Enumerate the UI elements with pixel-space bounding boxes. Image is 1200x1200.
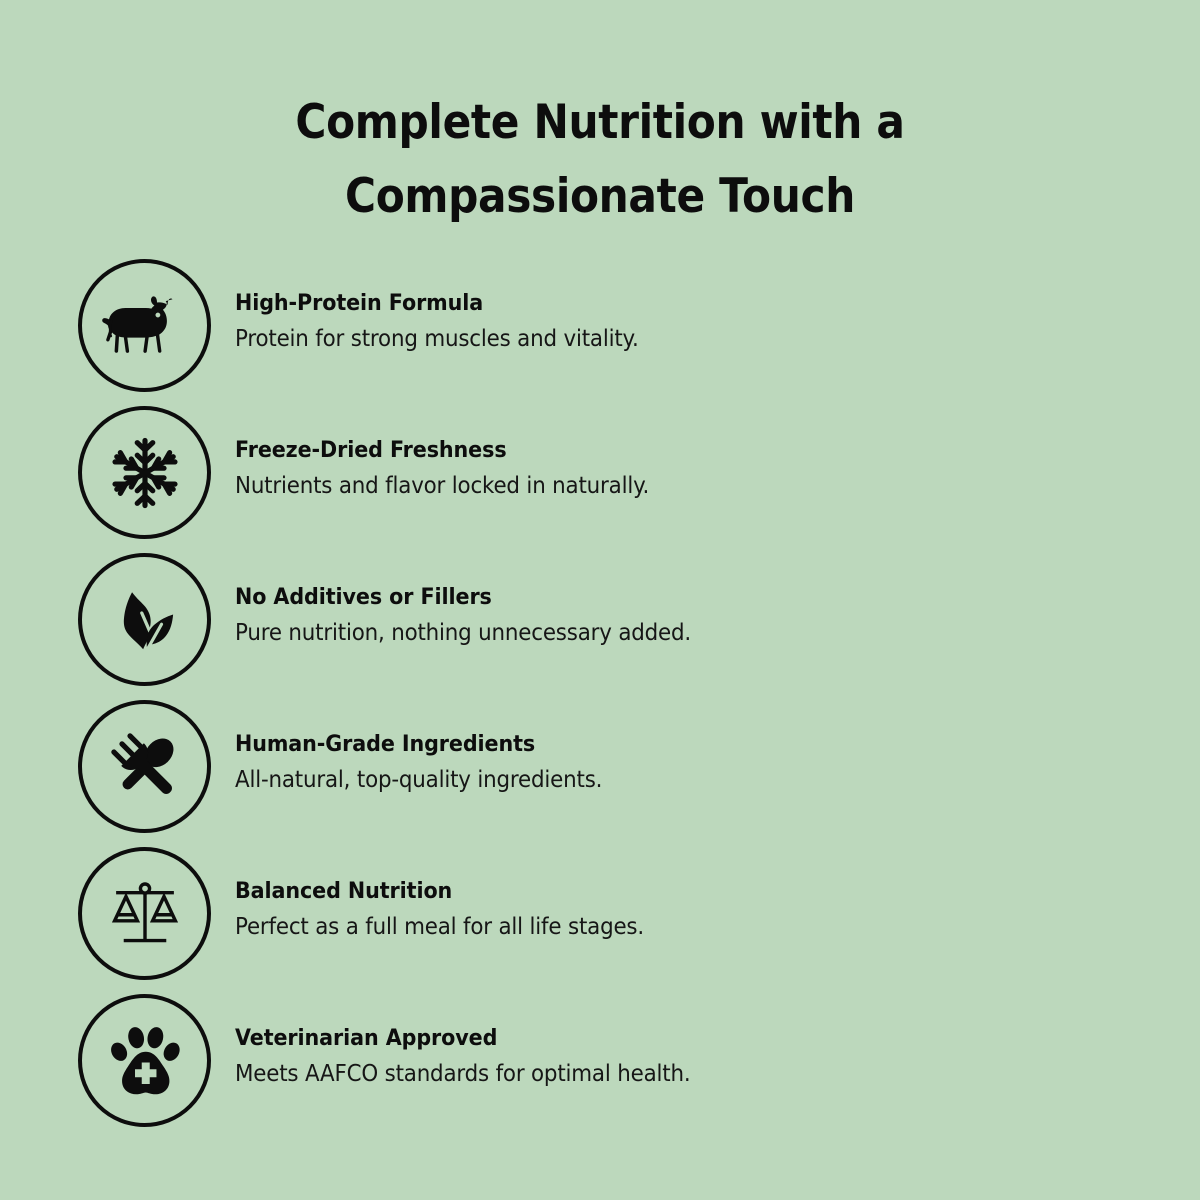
feature-item-high-protein-formula: High-Protein Formula Protein for strong … [78, 259, 1138, 406]
feature-description: Nutrients and flavor locked in naturally… [235, 466, 1075, 506]
feature-item-veterinarian-approved: Veterinarian Approved Meets AAFCO standa… [78, 994, 1138, 1141]
nutrition-features-poster: Complete Nutrition with a Compassionate … [0, 0, 1200, 1200]
feature-description: Protein for strong muscles and vitality. [235, 319, 1075, 359]
icon-badge [78, 553, 211, 686]
feature-text-block: High-Protein Formula Protein for strong … [211, 259, 1138, 359]
leaves-icon [108, 588, 182, 652]
feature-item-human-grade-ingredients: Human-Grade Ingredients All-natural, top… [78, 700, 1138, 847]
feature-description: Perfect as a full meal for all life stag… [235, 907, 1075, 947]
snowflake-icon [108, 436, 182, 510]
feature-item-no-additives-or-fillers: No Additives or Fillers Pure nutrition, … [78, 553, 1138, 700]
balance-scale-icon [107, 878, 183, 950]
page-title-line-2: Compassionate Touch [60, 160, 1140, 234]
feature-heading: Human-Grade Ingredients [235, 730, 1084, 760]
feature-heading: No Additives or Fillers [235, 583, 1084, 613]
feature-text-block: Veterinarian Approved Meets AAFCO standa… [211, 994, 1138, 1094]
icon-badge [78, 700, 211, 833]
feature-text-block: Human-Grade Ingredients All-natural, top… [211, 700, 1138, 800]
feature-list: High-Protein Formula Protein for strong … [78, 259, 1138, 1141]
feature-heading: High-Protein Formula [235, 289, 1084, 319]
feature-item-balanced-nutrition: Balanced Nutrition Perfect as a full mea… [78, 847, 1138, 994]
feature-description: All-natural, top-quality ingredients. [235, 760, 1075, 800]
cow-icon [102, 295, 188, 357]
feature-heading: Balanced Nutrition [235, 877, 1084, 907]
paw-cross-icon [108, 1025, 182, 1097]
icon-badge [78, 259, 211, 392]
icon-badge [78, 847, 211, 980]
feature-text-block: Balanced Nutrition Perfect as a full mea… [211, 847, 1138, 947]
feature-heading: Veterinarian Approved [235, 1024, 1084, 1054]
icon-badge [78, 994, 211, 1127]
feature-description: Pure nutrition, nothing unnecessary adde… [235, 613, 1075, 653]
feature-item-freeze-dried-freshness: Freeze-Dried Freshness Nutrients and fla… [78, 406, 1138, 553]
page-title-line-1: Complete Nutrition with a [60, 86, 1140, 160]
icon-badge [78, 406, 211, 539]
feature-text-block: Freeze-Dried Freshness Nutrients and fla… [211, 406, 1138, 506]
feature-heading: Freeze-Dried Freshness [235, 436, 1084, 466]
feature-text-block: No Additives or Fillers Pure nutrition, … [211, 553, 1138, 653]
feature-description: Meets AAFCO standards for optimal health… [235, 1054, 1075, 1094]
page-title: Complete Nutrition with a Compassionate … [0, 86, 1200, 234]
spoon-fork-icon [105, 727, 185, 807]
